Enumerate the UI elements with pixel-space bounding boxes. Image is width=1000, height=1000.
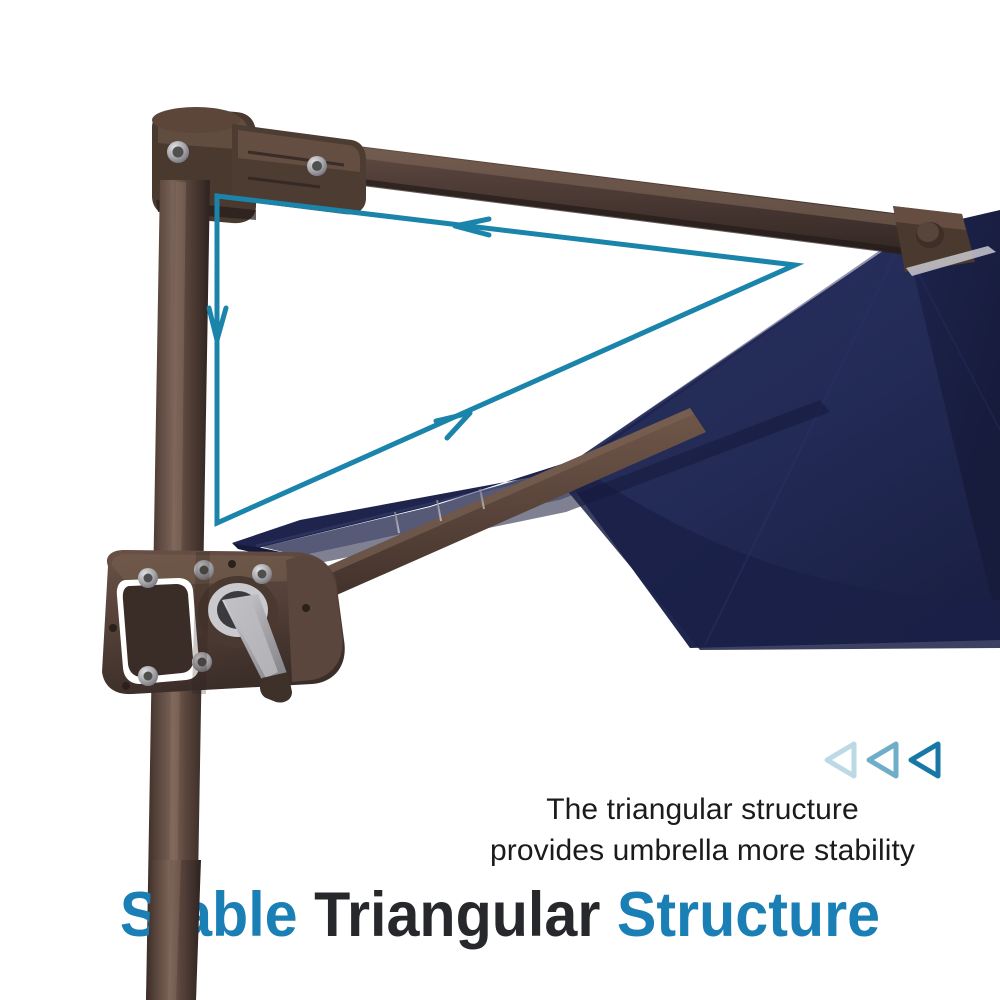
crank-housing	[102, 550, 345, 703]
chevron-left-icon-1	[827, 744, 854, 776]
chevron-marker-group	[818, 736, 958, 784]
chevron-left-icon-3	[911, 744, 938, 776]
subtitle: The triangular structure provides umbrel…	[430, 790, 975, 871]
feature-graphic: The triangular structure provides umbrel…	[0, 0, 1000, 1000]
subtitle-line-1: The triangular structure	[546, 793, 859, 826]
vertical-post-foreground	[0, 860, 1000, 1000]
chevron-left-icon-2	[869, 744, 896, 776]
